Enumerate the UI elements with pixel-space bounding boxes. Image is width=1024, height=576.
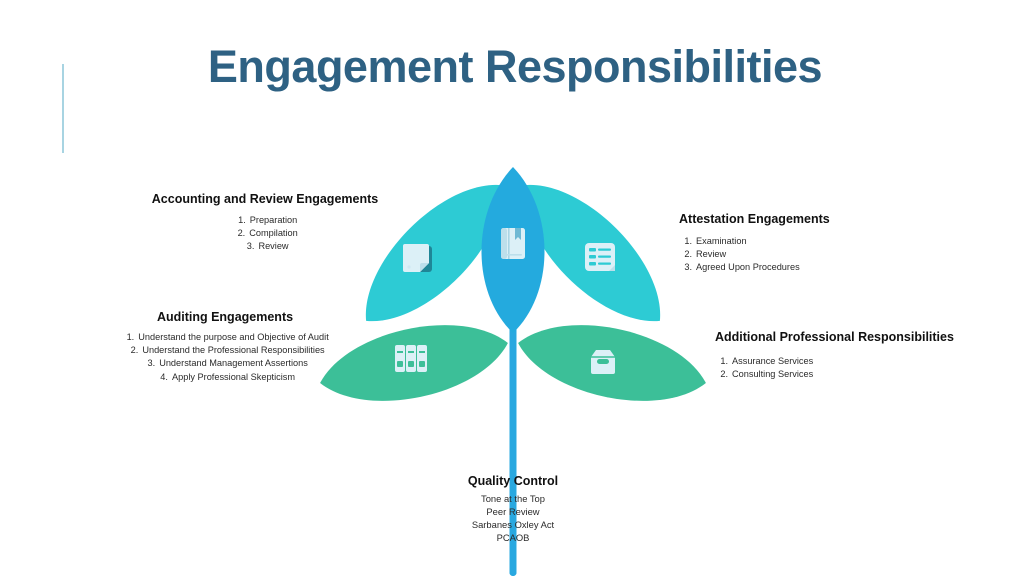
inbox-tray-icon [591,350,615,374]
list-item-label: Consulting Services [732,369,813,379]
page-title: Engagement Responsibilities [120,42,910,92]
list-item: 2.Review [679,248,999,261]
block-heading: Accounting and Review Engagements [150,192,380,208]
list-item-label: Understand the Professional Responsibili… [142,345,324,355]
list-item-label: Apply Professional Skepticism [172,372,295,382]
list-item: 1.Understand the purpose and Objective o… [60,331,390,344]
list-item-label: Review [258,241,288,251]
block-list: 1.Understand the purpose and Objective o… [60,331,390,384]
list-item: 2.Compilation [150,227,380,240]
list-item-number: 2. [679,248,692,261]
list-item-number: 1. [679,235,692,248]
list-item: 1.Assurance Services [715,355,1015,368]
block-list: 1.Assurance Services 2.Consulting Servic… [715,355,1015,382]
list-item-number: 3. [241,240,254,253]
list-item-label: Understand the purpose and Objective of … [138,332,329,342]
list-item: 3.Review [150,240,380,253]
list-item-label: Preparation [250,215,298,225]
list-item-label: Agreed Upon Procedures [696,262,800,272]
slide: Engagement Responsibilities [0,0,1024,576]
list-item: 4.Apply Professional Skepticism [60,371,390,384]
list-item: 3.Agreed Upon Procedures [679,261,999,274]
block-heading: Additional Professional Responsibilities [715,330,1015,346]
block-list: 1.Examination 2.Review 3.Agreed Upon Pro… [679,235,999,275]
list-item-number: 3. [142,357,155,370]
checklist-document-icon [585,243,615,271]
list-item: 1.Preparation [150,214,380,227]
list-item: 2.Understand the Professional Responsibi… [60,344,390,357]
quality-control-line: Tone at the Top [413,493,613,506]
list-item-number: 1. [715,355,728,368]
sticky-note-icon [403,244,432,272]
binders-icon [395,345,427,372]
block-heading: Attestation Engagements [679,212,999,228]
book-icon [501,228,525,259]
list-item-label: Assurance Services [732,356,813,366]
quality-control-line: Peer Review [413,506,613,519]
block-heading: Quality Control [413,474,613,490]
list-item-number: 4. [155,371,168,384]
block-quality-control: Quality Control Tone at the Top Peer Rev… [413,474,613,545]
quality-control-line: PCAOB [413,532,613,545]
list-item-label: Review [696,249,726,259]
block-additional-professional-responsibilities: Additional Professional Responsibilities… [715,330,1015,381]
list-item-number: 1. [121,331,134,344]
list-item-number: 2. [125,344,138,357]
list-item: 1.Examination [679,235,999,248]
list-item-label: Examination [696,236,747,246]
list-item-number: 1. [233,214,246,227]
list-item-label: Compilation [249,228,298,238]
block-heading: Auditing Engagements [60,310,390,326]
list-item-number: 3. [679,261,692,274]
quality-control-line: Sarbanes Oxley Act [413,519,613,532]
list-item-number: 2. [715,368,728,381]
list-item: 2.Consulting Services [715,368,1015,381]
list-item: 3.Understand Management Assertions [60,357,390,370]
block-auditing-engagements: Auditing Engagements 1.Understand the pu… [60,310,390,384]
petal-bottom-right[interactable] [511,309,713,416]
petal-center[interactable] [482,167,545,333]
list-item-number: 2. [232,227,245,240]
block-list: 1.Preparation 2.Compilation 3.Review [150,214,380,254]
title-accent-bar [62,64,64,153]
petal-top-right[interactable] [500,161,685,346]
list-item-label: Understand Management Assertions [159,358,308,368]
stem-lower-segment [510,540,517,576]
block-accounting-and-review-engagements: Accounting and Review Engagements 1.Prep… [150,192,380,254]
block-attestation-engagements: Attestation Engagements 1.Examination 2.… [679,212,999,275]
